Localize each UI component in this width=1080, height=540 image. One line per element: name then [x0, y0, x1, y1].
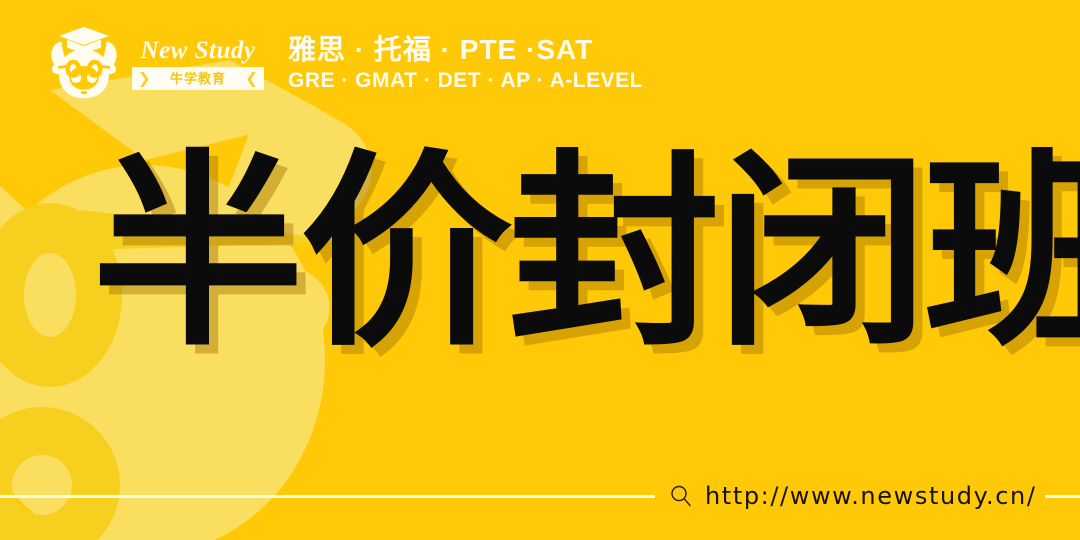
exam-list-line-2: GRE · GMAT · DET · AP · A-LEVEL — [288, 70, 643, 91]
chevron-right-icon: ❯ — [138, 71, 151, 86]
footer-url-bar: http://www.newstudy.cn/ — [0, 482, 1080, 510]
ribbon-arrow-left-shape — [118, 68, 132, 90]
brand-text-block: New Study ❯ 牛学教育 ❮ — [132, 34, 264, 90]
brand-name-en: New Study — [141, 38, 256, 63]
brand-name-cn: 牛学教育 — [170, 72, 226, 85]
divider-left — [0, 495, 655, 498]
exam-program-list: 雅思 · 托福 · PTE ·SAT GRE · GMAT · DET · AP… — [288, 34, 643, 91]
headline-text: 半价封闭班 — [92, 150, 1080, 358]
exam-list-line-1: 雅思 · 托福 · PTE ·SAT — [288, 36, 643, 64]
magnifier-icon — [669, 484, 693, 508]
website-url[interactable]: http://www.newstudy.cn/ — [705, 482, 1037, 510]
brand-header: New Study ❯ 牛学教育 ❮ 雅思 · 托福 · PTE ·SAT GR… — [50, 22, 643, 102]
divider-right — [1045, 495, 1080, 498]
chevron-left-icon: ❮ — [245, 71, 258, 86]
bull-graduate-icon — [50, 22, 118, 102]
ribbon-arrow-right-shape — [264, 68, 278, 90]
promo-banner: New Study ❯ 牛学教育 ❮ 雅思 · 托福 · PTE ·SAT GR… — [0, 0, 1080, 540]
brand-ribbon: ❯ 牛学教育 ❮ — [132, 67, 264, 90]
